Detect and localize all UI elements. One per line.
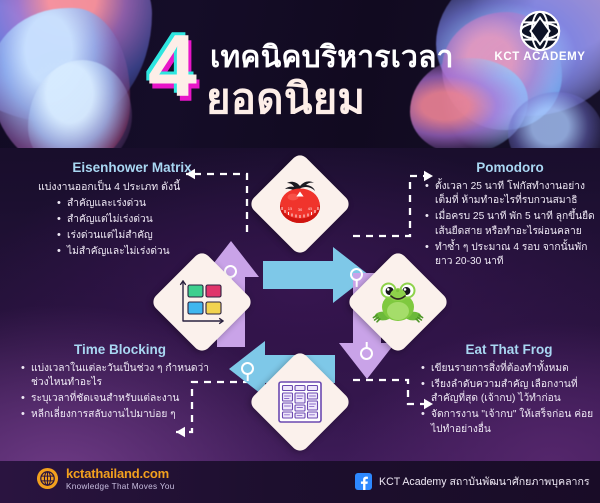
section-list-time-blocking: แบ่งเวลาในแต่ละวันเป็นช่วง ๆ กำหนดว่าช่ว… xyxy=(20,362,220,423)
section-title-eat-that-frog: Eat That Frog xyxy=(420,342,598,357)
list-item: เขียนรายการสิ่งที่ต้องทำทั้งหมด xyxy=(420,362,598,376)
title-line-two: ยอดนิยม xyxy=(206,66,365,132)
title-number: 4 xyxy=(148,26,195,107)
list-item: แบ่งเวลาในแต่ละวันเป็นช่วง ๆ กำหนดว่าช่ว… xyxy=(20,362,220,391)
section-title-pomodoro: Pomodoro xyxy=(424,160,596,175)
section-title-time-blocking: Time Blocking xyxy=(20,342,220,357)
footer: kctathailand.com Knowledge That Moves Yo… xyxy=(0,461,600,503)
list-item: หลีกเลี่ยงการสลับงานไปมาบ่อย ๆ xyxy=(20,408,220,422)
list-item: เรียงลำดับความสำคัญ เลือกงานที่สำคัญที่ส… xyxy=(420,378,598,407)
section-eat-that-frog: Eat That Frog เขียนรายการสิ่งที่ต้องทำทั… xyxy=(420,342,598,439)
section-title-eisenhower: Eisenhower Matrix xyxy=(38,160,226,175)
infographic-canvas: 4 เทคนิคบริหารเวลา ยอดนิยม KCT ACADEMY xyxy=(0,0,600,503)
svg-text:30: 30 xyxy=(298,208,303,212)
card-eisenhower-matrix xyxy=(150,250,255,355)
list-item: จัดการงาน "เจ้ากบ" ให้เสร็จก่อน ค่อยไปทำ… xyxy=(420,408,598,437)
quadrant-matrix-icon xyxy=(175,275,229,329)
social-block[interactable]: KCT Academy สถาบันพัฒนาศักยภาพบุคลากร xyxy=(355,473,590,490)
section-eisenhower-matrix: Eisenhower Matrix แบ่งงานออกเป็น 4 ประเภ… xyxy=(38,160,226,261)
list-item: ทำซ้ำ ๆ ประมาณ 4 รอบ จากนั้นพักยาว 20-30… xyxy=(424,241,596,270)
list-item: เร่งด่วนแต่ไม่สำคัญ xyxy=(56,229,226,243)
list-item: ไม่สำคัญและไม่เร่งด่วน xyxy=(56,245,226,259)
header: 4 เทคนิคบริหารเวลา ยอดนิยม KCT ACADEMY xyxy=(0,0,600,148)
section-lead-eisenhower: แบ่งงานออกเป็น 4 ประเภท ดังนี้ xyxy=(38,180,226,195)
knot-down-icon xyxy=(360,347,373,360)
frog-icon xyxy=(370,274,426,330)
tomato-timer-icon: 153045 xyxy=(271,175,329,233)
list-item: ตั้งเวลา 25 นาที โฟกัสทำงานอย่างเต็มที่ … xyxy=(424,180,596,209)
card-time-blocking xyxy=(248,350,353,455)
kct-academy-logo: KCT ACADEMY xyxy=(492,8,588,68)
svg-text:15: 15 xyxy=(288,207,293,211)
list-item: สำคัญและเร่งด่วน xyxy=(56,197,226,211)
logo-text: KCT ACADEMY xyxy=(492,51,588,63)
page-title: 4 เทคนิคบริหารเวลา ยอดนิยม xyxy=(148,22,478,134)
schedule-board-icon xyxy=(274,376,326,428)
list-item: ระบุเวลาที่ชัดเจนสำหรับแต่ละงาน xyxy=(20,392,220,406)
list-item: เมื่อครบ 25 นาที พัก 5 นาที ลุกขึ้นยืดเส… xyxy=(424,210,596,239)
social-text: KCT Academy สถาบันพัฒนาศักยภาพบุคลากร xyxy=(379,473,590,490)
section-list-pomodoro: ตั้งเวลา 25 นาที โฟกัสทำงานอย่างเต็มที่ … xyxy=(424,180,596,270)
globe-icon xyxy=(36,467,59,490)
card-pomodoro: 153045 xyxy=(248,152,353,257)
section-list-eisenhower: สำคัญและเร่งด่วน สำคัญแต่ไม่เร่งด่วน เร่… xyxy=(38,197,226,259)
website-url: kctathailand.com xyxy=(66,466,175,481)
globe-icon xyxy=(517,8,563,54)
website-tagline: Knowledge That Moves You xyxy=(66,482,175,491)
svg-text:45: 45 xyxy=(308,207,313,211)
list-item: สำคัญแต่ไม่เร่งด่วน xyxy=(56,213,226,227)
section-pomodoro: Pomodoro ตั้งเวลา 25 นาที โฟกัสทำงานอย่า… xyxy=(424,160,596,271)
knot-left-icon xyxy=(241,362,254,375)
facebook-icon xyxy=(355,473,372,490)
website-block[interactable]: kctathailand.com Knowledge That Moves Yo… xyxy=(36,466,175,491)
section-time-blocking: Time Blocking แบ่งเวลาในแต่ละวันเป็นช่วง… xyxy=(20,342,220,424)
section-list-eat-that-frog: เขียนรายการสิ่งที่ต้องทำทั้งหมด เรียงลำด… xyxy=(420,362,598,437)
